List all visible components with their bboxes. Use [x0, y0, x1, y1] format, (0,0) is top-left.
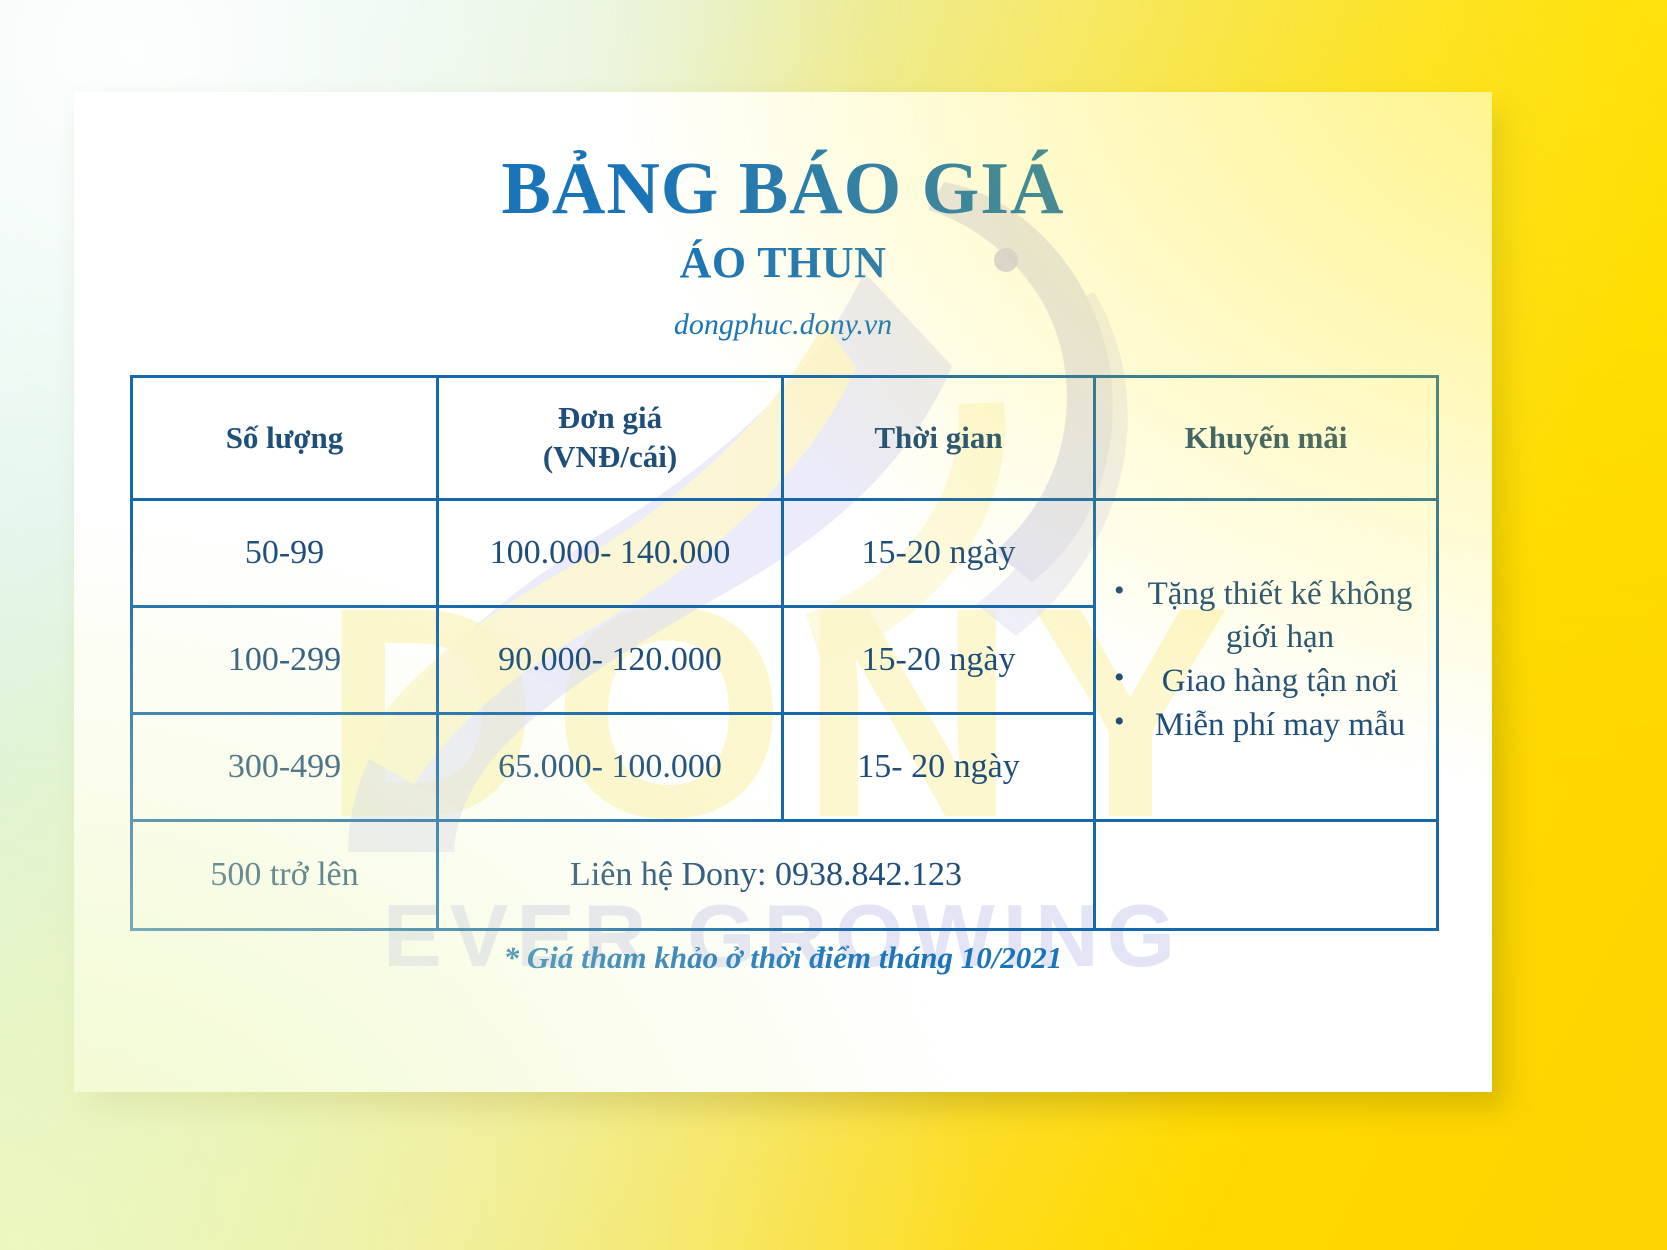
column-header-promotion: Khuyến mãi — [1095, 377, 1438, 500]
poster-background: DONY EVER GROWING BẢNG BÁO GIÁ ÁO THUN d… — [0, 0, 1667, 1250]
cell-price: 100.000- 140.000 — [438, 500, 783, 607]
column-header-unit-price: Đơn giá (VNĐ/cái) — [438, 377, 783, 500]
cell-quantity: 500 trở lên — [132, 821, 438, 930]
footnote: * Giá tham khảo ở thời điểm tháng 10/202… — [74, 940, 1492, 976]
list-item: Miễn phí may mẫu — [1114, 704, 1424, 748]
page-subtitle: ÁO THUN — [74, 234, 1492, 291]
table-row: 50-99 100.000- 140.000 15-20 ngày Tặng t… — [132, 500, 1438, 607]
column-header-unit-price-line2: (VNĐ/cái) — [445, 438, 775, 477]
column-header-time: Thời gian — [783, 377, 1095, 500]
website-url[interactable]: dongphuc.dony.vn — [74, 304, 1492, 346]
table-header-row: Số lượng Đơn giá (VNĐ/cái) Thời gian Khu… — [132, 377, 1438, 500]
price-table-container: Số lượng Đơn giá (VNĐ/cái) Thời gian Khu… — [130, 375, 1436, 931]
cell-price: 90.000- 120.000 — [438, 607, 783, 714]
cell-price: 65.000- 100.000 — [438, 714, 783, 821]
promotions-list: Tặng thiết kế không giới hạn Giao hàng t… — [1114, 573, 1424, 747]
column-header-quantity: Số lượng — [132, 377, 438, 500]
price-quote-card: DONY EVER GROWING BẢNG BÁO GIÁ ÁO THUN d… — [74, 92, 1492, 1092]
cell-promotions: Tặng thiết kế không giới hạn Giao hàng t… — [1095, 500, 1438, 821]
cell-time: 15-20 ngày — [783, 607, 1095, 714]
title-block: BẢNG BÁO GIÁ ÁO THUN dongphuc.dony.vn — [74, 150, 1492, 346]
cell-time: 15-20 ngày — [783, 500, 1095, 607]
price-table: Số lượng Đơn giá (VNĐ/cái) Thời gian Khu… — [130, 375, 1439, 931]
cell-quantity: 300-499 — [132, 714, 438, 821]
list-item: Tặng thiết kế không giới hạn — [1114, 573, 1424, 660]
list-item: Giao hàng tận nơi — [1114, 660, 1424, 704]
cell-quantity: 100-299 — [132, 607, 438, 714]
cell-contact[interactable]: Liên hệ Dony: 0938.842.123 — [438, 821, 1095, 930]
page-title: BẢNG BÁO GIÁ — [74, 150, 1492, 228]
table-row-contact: 500 trở lên Liên hệ Dony: 0938.842.123 — [132, 821, 1438, 930]
cell-time: 15- 20 ngày — [783, 714, 1095, 821]
column-header-unit-price-line1: Đơn giá — [445, 399, 775, 438]
cell-promotions-spacer — [1095, 821, 1438, 930]
cell-quantity: 50-99 — [132, 500, 438, 607]
